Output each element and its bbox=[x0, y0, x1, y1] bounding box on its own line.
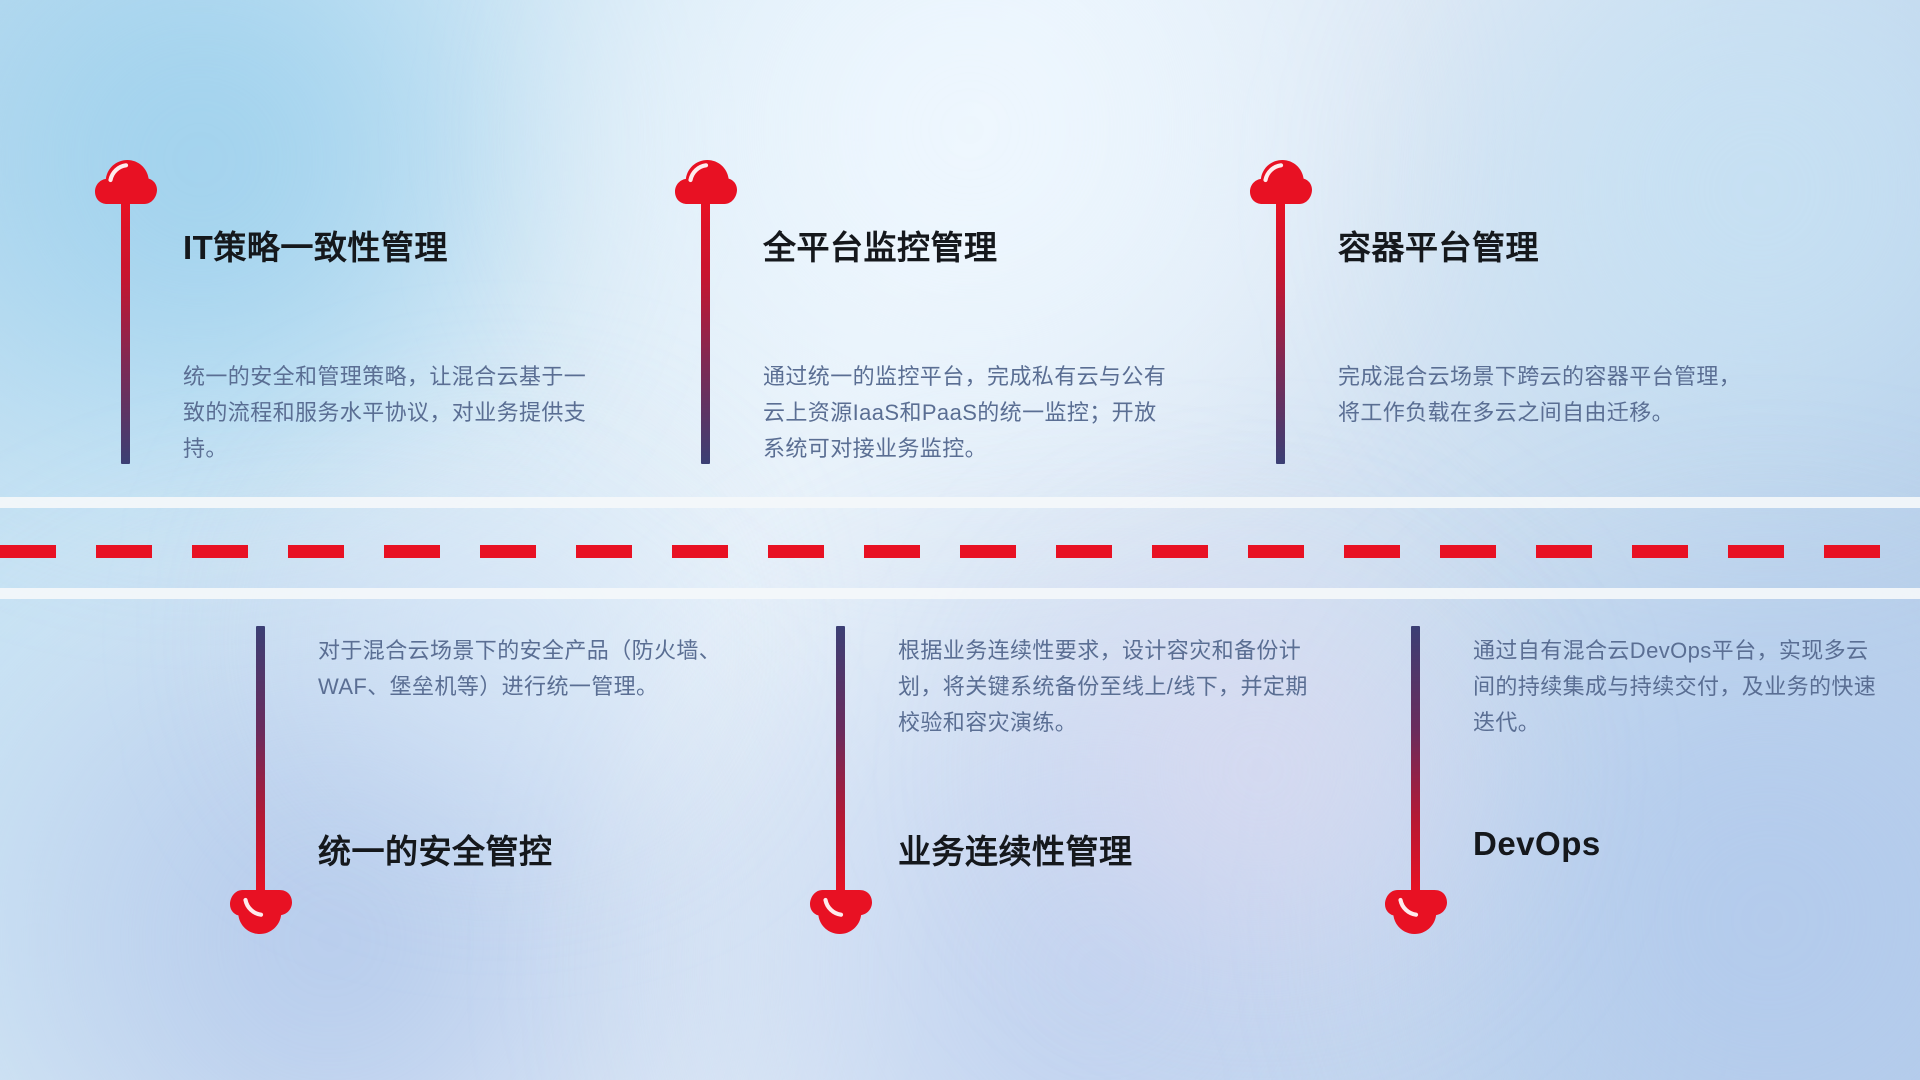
connector-stem bbox=[836, 626, 845, 892]
bottom-item-body: 对于混合云场景下的安全产品（防火墙、WAF、堡垒机等）进行统一管理。 bbox=[318, 633, 730, 705]
divider-line-top bbox=[0, 497, 1920, 508]
divider-line-bottom bbox=[0, 588, 1920, 599]
bottom-item-title: 统一的安全管控 bbox=[318, 825, 553, 873]
top-item-title: IT策略一致性管理 bbox=[183, 221, 448, 269]
cloud-icon bbox=[95, 160, 157, 204]
cloud-icon bbox=[1250, 160, 1312, 204]
connector-stem bbox=[1276, 202, 1285, 464]
top-item-title: 容器平台管理 bbox=[1338, 221, 1539, 269]
divider-dashed-line bbox=[0, 545, 1920, 558]
connector-stem bbox=[256, 626, 265, 892]
bottom-item-body: 根据业务连续性要求，设计容灾和备份计划，将关键系统备份至线上/线下，并定期校验和… bbox=[898, 633, 1310, 741]
bottom-item-title: DevOps bbox=[1473, 825, 1601, 863]
connector-stem bbox=[1411, 626, 1420, 892]
cloud-icon bbox=[1385, 890, 1447, 934]
top-item-body: 通过统一的监控平台，完成私有云与公有云上资源IaaS和PaaS的统一监控；开放系… bbox=[763, 359, 1175, 467]
cloud-icon bbox=[810, 890, 872, 934]
bottom-item-title: 业务连续性管理 bbox=[898, 825, 1133, 873]
top-item-body: 完成混合云场景下跨云的容器平台管理，将工作负载在多云之间自由迁移。 bbox=[1338, 359, 1750, 431]
infographic-canvas: IT策略一致性管理 统一的安全和管理策略，让混合云基于一致的流程和服务水平协议，… bbox=[0, 0, 1920, 1080]
cloud-icon bbox=[675, 160, 737, 204]
top-item-body: 统一的安全和管理策略，让混合云基于一致的流程和服务水平协议，对业务提供支持。 bbox=[183, 359, 595, 467]
connector-stem bbox=[121, 202, 130, 464]
bottom-item-body: 通过自有混合云DevOps平台，实现多云间的持续集成与持续交付，及业务的快速迭代… bbox=[1473, 633, 1885, 741]
connector-stem bbox=[701, 202, 710, 464]
cloud-icon bbox=[230, 890, 292, 934]
top-item-title: 全平台监控管理 bbox=[763, 221, 998, 269]
